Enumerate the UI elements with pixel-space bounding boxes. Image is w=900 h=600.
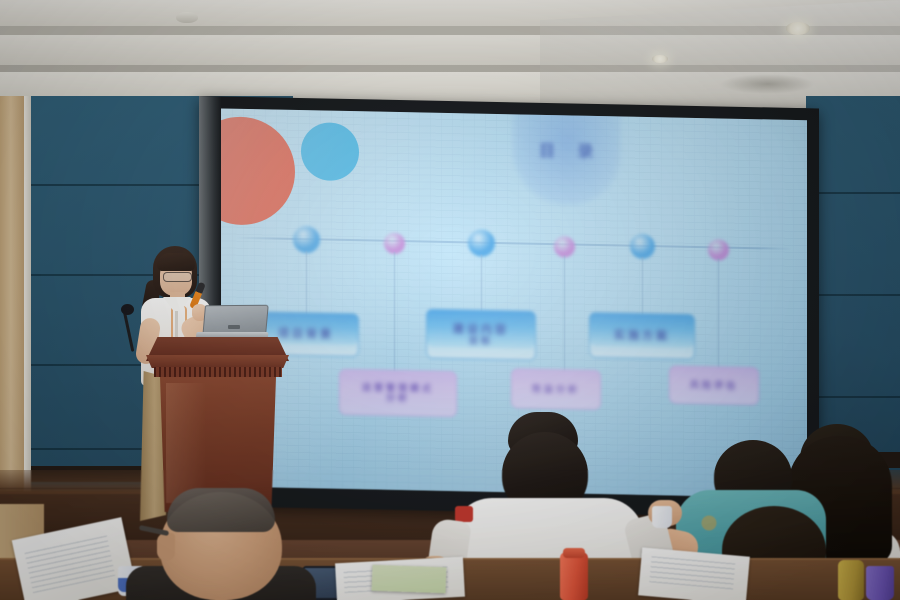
conference-photo: 目 录 项目背景 建设内容 目标 实施方 — [0, 0, 900, 600]
slide-card-blue-3: 实施方案 — [589, 312, 695, 360]
document-papers — [372, 565, 447, 594]
timeline-stem-4 — [564, 255, 565, 377]
thermos-gold — [838, 560, 864, 600]
timeline-stem-1 — [306, 251, 307, 317]
paper-cup-white — [652, 506, 672, 528]
slide-title: 目 录 — [539, 137, 599, 162]
timeline-dot-5 — [630, 234, 655, 260]
slide-card-pink-2: 效益分析 — [511, 368, 601, 410]
lectern-highlight — [166, 383, 206, 503]
downlight-icon — [652, 55, 668, 63]
downlight-icon — [786, 22, 810, 35]
laptop-logo — [228, 325, 240, 329]
timeline-dot-3 — [468, 229, 495, 257]
presenter-hair-front — [157, 253, 195, 271]
timeline-stem-2 — [394, 252, 395, 372]
lectern — [146, 337, 289, 512]
wall-column — [0, 96, 24, 516]
cyan-circle-icon — [301, 122, 359, 181]
panel-seam — [806, 396, 900, 398]
attendee-hair — [167, 488, 275, 532]
slide-card-pink-1: 运营管理模式 分析 — [339, 369, 457, 417]
lectern-molding — [154, 367, 282, 377]
tshirt-logo — [455, 506, 473, 522]
smoke-detector-icon — [176, 12, 198, 23]
water-bottle-orange — [560, 552, 588, 600]
attendee-ear — [157, 533, 175, 561]
ceiling-stain — [720, 74, 815, 94]
panel-seam — [806, 294, 900, 296]
timeline-stem-5 — [642, 257, 643, 319]
timeline-dot-4 — [554, 236, 575, 257]
panel-seam — [806, 192, 900, 194]
document-papers — [638, 547, 750, 600]
glasses-icon — [163, 272, 192, 282]
slide-card-blue-2: 建设内容 目标 — [426, 309, 536, 361]
timeline-stem-3 — [481, 255, 482, 317]
timeline-dot-1 — [293, 226, 320, 254]
wall-column-edge — [24, 96, 31, 516]
podium-microphone-icon — [121, 304, 134, 315]
timeline-dot-6 — [708, 239, 729, 260]
timeline-stem-6 — [718, 258, 719, 376]
bottle-cap — [563, 548, 585, 558]
ceiling — [0, 0, 900, 108]
paper-cup-purple — [866, 566, 894, 600]
timeline-dot-2 — [384, 233, 405, 254]
slide-card-pink-3: 风险评估 — [669, 365, 759, 405]
